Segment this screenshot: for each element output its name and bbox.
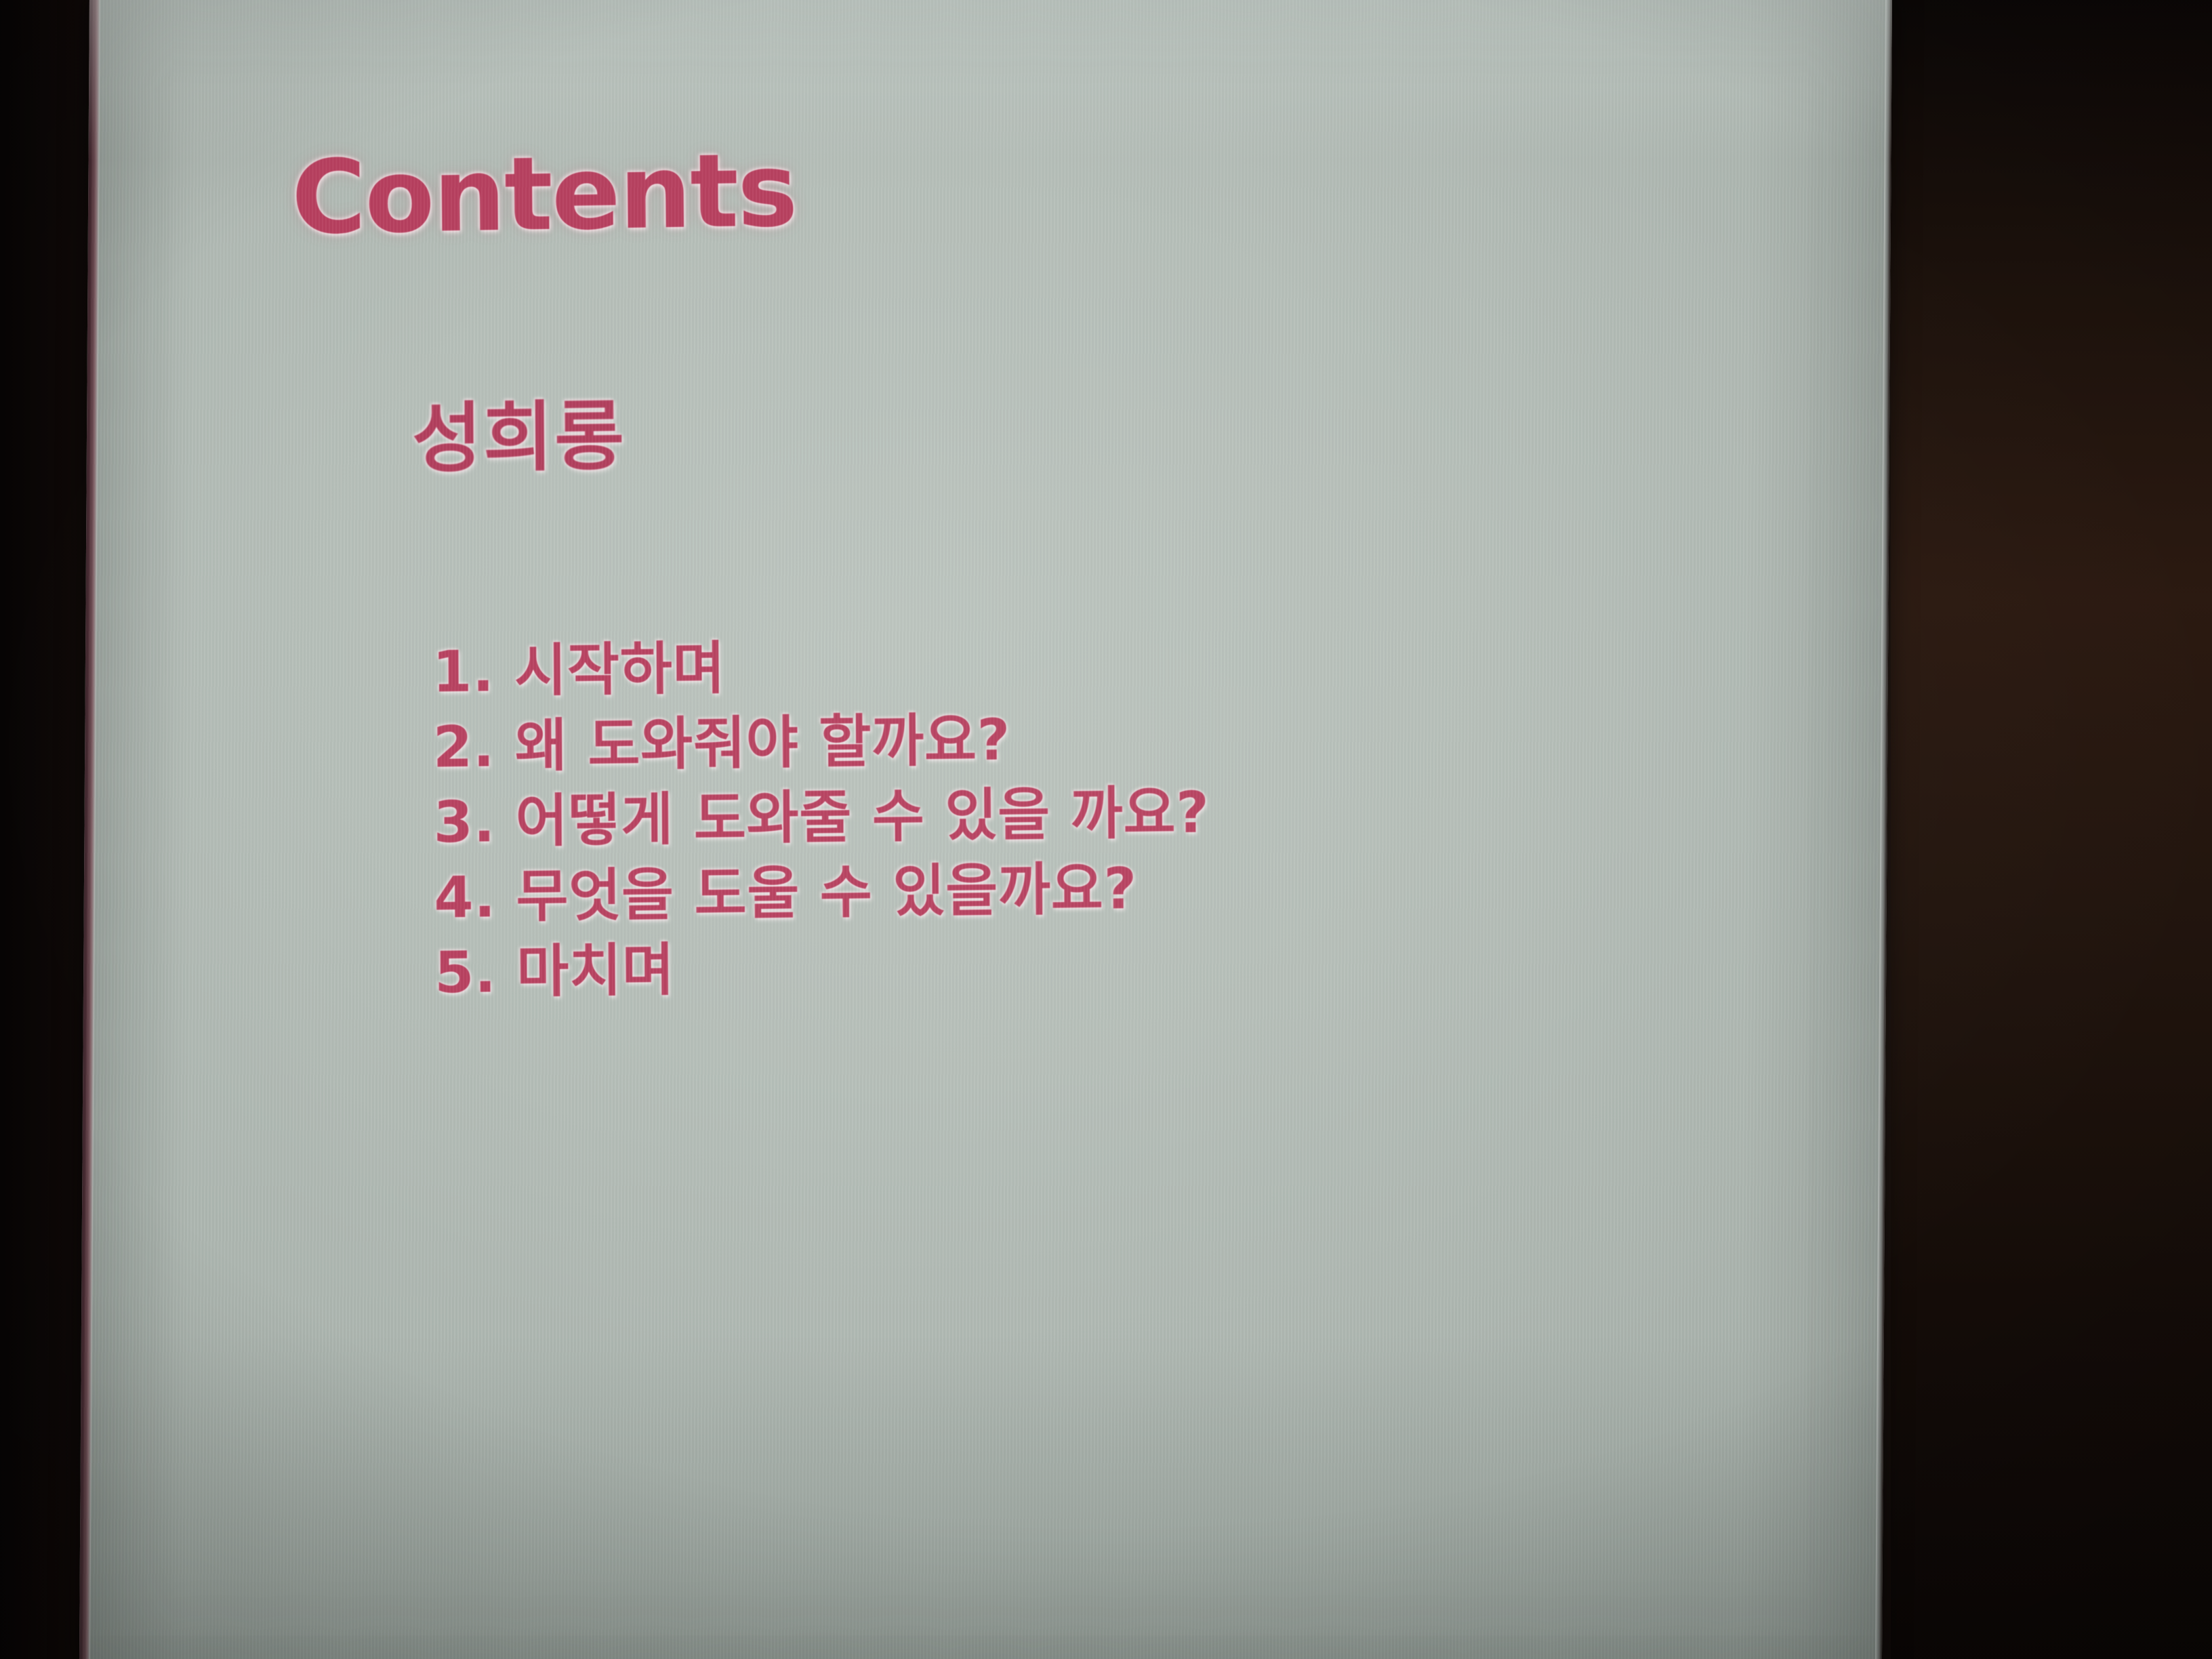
list-item: 4. 무엇을 도울 수 있을까요? <box>434 855 1210 932</box>
list-item: 2. 왜 도와줘야 할까요? <box>432 704 1209 781</box>
room-wall-left <box>0 0 89 1659</box>
room-wall-right <box>1891 0 2212 1659</box>
presentation-slide: Contents 성희롱 1. 시작하며 2. 왜 도와줘야 할까요? 3. 어… <box>79 0 1892 1659</box>
projection-screen: Contents 성희롱 1. 시작하며 2. 왜 도와줘야 할까요? 3. 어… <box>79 0 1892 1659</box>
contents-list: 1. 시작하며 2. 왜 도와줘야 할까요? 3. 어떻게 도와줄 수 있을 까… <box>432 629 1211 1015</box>
list-item: 3. 어떻게 도와줄 수 있을 까요? <box>433 779 1210 857</box>
photo-frame: Contents 성희롱 1. 시작하며 2. 왜 도와줘야 할까요? 3. 어… <box>0 0 2212 1659</box>
slide-subtitle: 성희롱 <box>412 398 626 477</box>
list-item: 1. 시작하며 <box>432 629 1209 706</box>
list-item: 5. 마치며 <box>434 930 1211 1007</box>
slide-title: Contents <box>291 140 797 249</box>
